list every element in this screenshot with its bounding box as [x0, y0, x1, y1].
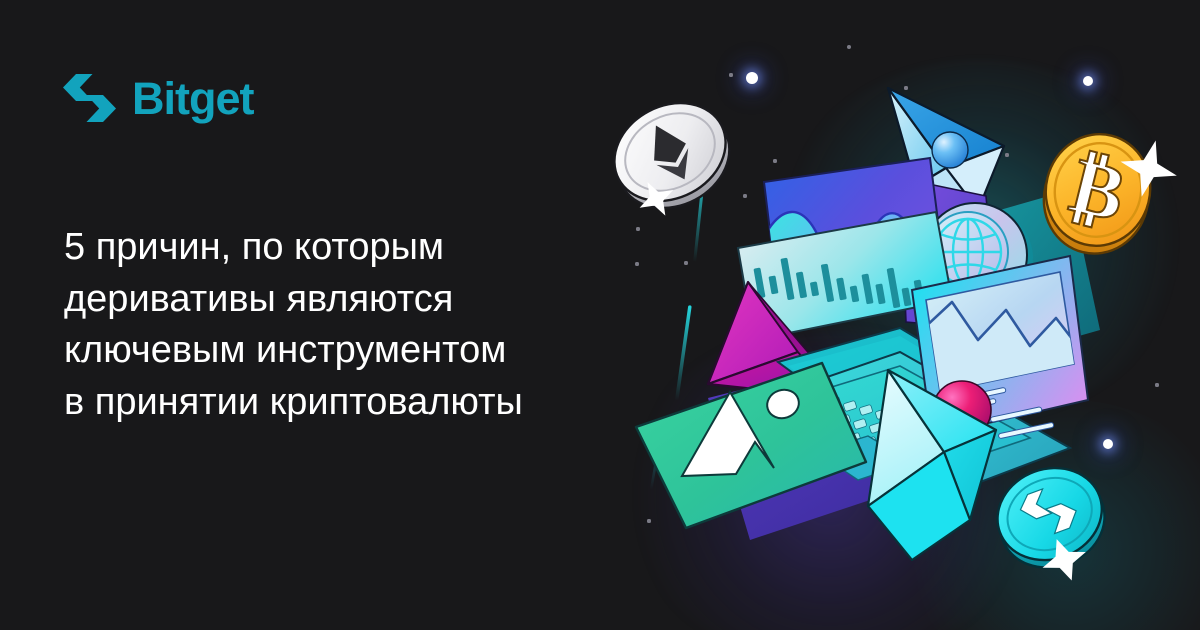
blue-sphere [932, 132, 968, 168]
poster-canvas: Bitget 5 причин, по которымдеривативы яв… [0, 0, 1200, 630]
page-title: 5 причин, по которымдеривативы являютсяк… [64, 222, 624, 429]
crypto-derivatives-illustration: ₿ [600, 0, 1200, 630]
ethereum-silver-coin [600, 84, 747, 227]
bitget-cyan-coin [984, 454, 1123, 598]
bitget-wordmark: Bitget [132, 76, 254, 121]
bitget-logo[interactable]: Bitget [62, 72, 254, 124]
bitget-double-chevron-icon [62, 72, 118, 124]
